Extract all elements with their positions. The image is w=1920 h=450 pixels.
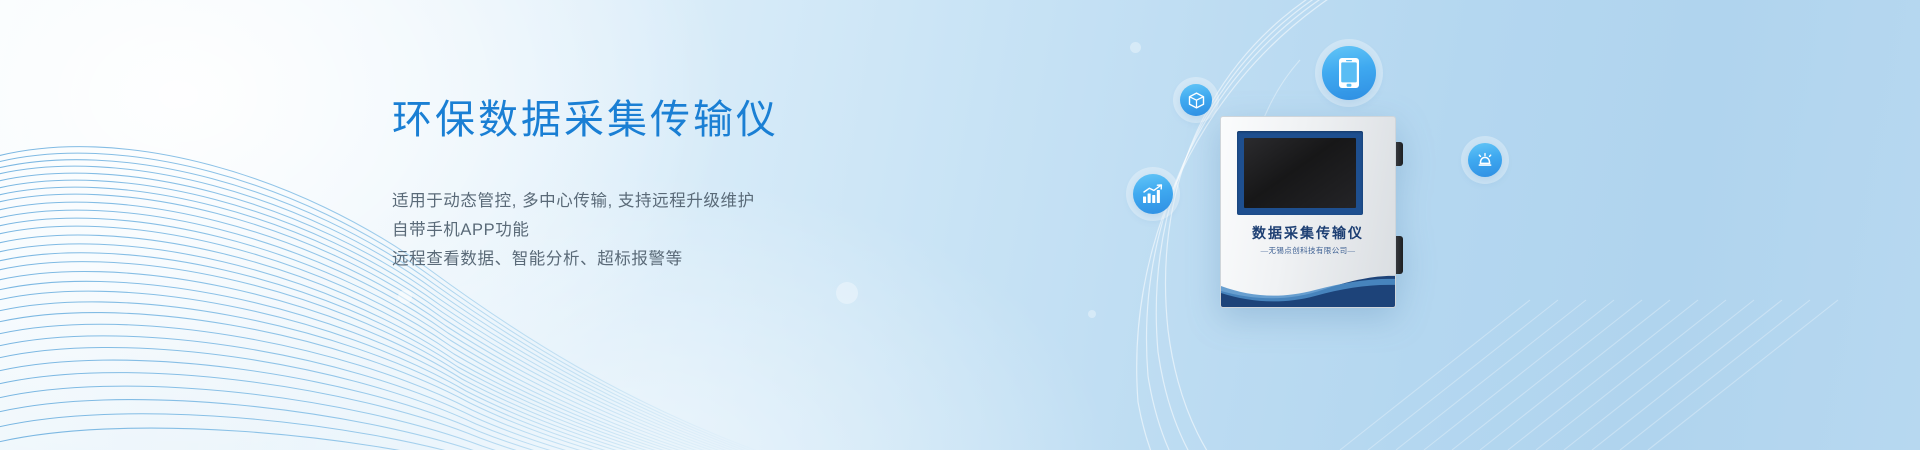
mobile-phone-icon xyxy=(1322,46,1376,100)
device-screen-bezel xyxy=(1237,131,1363,215)
device-wave-graphic xyxy=(1221,261,1396,307)
decorative-bubbles xyxy=(0,0,1920,450)
banner-text-block: 环保数据采集传输仪 适用于动态管控, 多中心传输, 支持远程升级维护 自带手机A… xyxy=(392,96,952,274)
feature-item-3: 远程查看数据、智能分析、超标报警等 xyxy=(392,245,952,274)
feature-list: 适用于动态管控, 多中心传输, 支持远程升级维护 自带手机APP功能 远程查看数… xyxy=(392,187,952,274)
cube-box-icon xyxy=(1180,84,1212,116)
device-body: 数据采集传输仪 —无锡点创科技有限公司— xyxy=(1220,116,1396,308)
feature-item-1: 适用于动态管控, 多中心传输, 支持远程升级维护 xyxy=(392,187,952,216)
decorative-hatch-lines xyxy=(0,0,1920,450)
bar-chart-growth-icon xyxy=(1133,174,1173,214)
alarm-siren-icon xyxy=(1468,143,1502,177)
product-device-image: 数据采集传输仪 —无锡点创科技有限公司— xyxy=(1220,116,1396,308)
feature-item-2: 自带手机APP功能 xyxy=(392,216,952,245)
product-banner: 环保数据采集传输仪 适用于动态管控, 多中心传输, 支持远程升级维护 自带手机A… xyxy=(0,0,1920,450)
page-title: 环保数据采集传输仪 xyxy=(392,96,952,145)
device-brand-name: 数据采集传输仪 xyxy=(1221,223,1395,243)
device-screen xyxy=(1244,138,1356,208)
device-company-name: —无锡点创科技有限公司— xyxy=(1221,245,1395,256)
